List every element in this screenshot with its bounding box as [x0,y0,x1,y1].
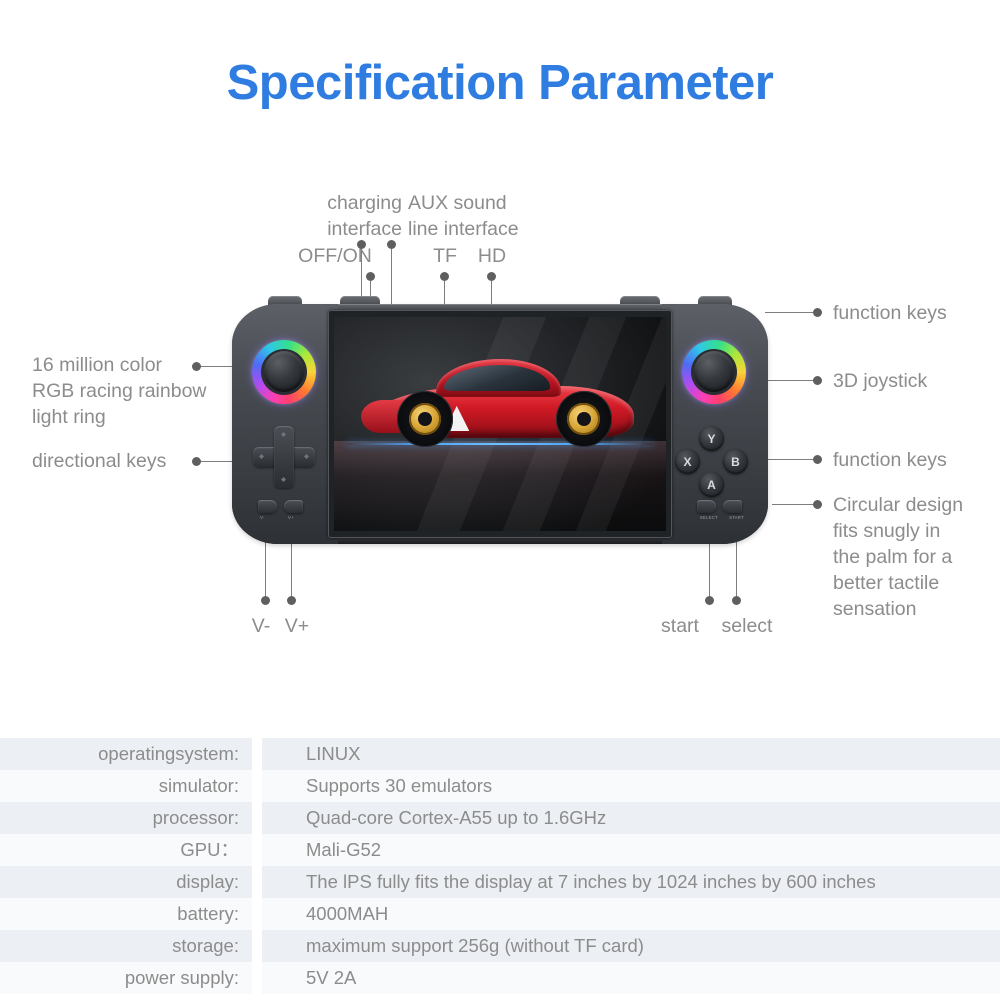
spec-key: GPU： [0,834,252,866]
spec-value: 5V 2A [262,962,1000,994]
column-divider [252,866,262,898]
spec-key: display: [0,866,252,898]
column-divider [252,930,262,962]
leader-dot-off-on [366,272,375,281]
callout-aux-sound-line-interface: AUX sound line interface [408,190,558,242]
callout-charging-interface: charging interface [255,190,402,242]
column-divider [252,802,262,834]
table-row: battery:4000MAH [0,898,1000,930]
handheld-game-console: V- V+ Y X B A SELECT START [232,296,768,544]
column-divider [252,834,262,866]
callout-circular-design: Circular design fits snugly in the palm … [833,492,998,622]
callout-directional-keys: directional keys [32,448,202,474]
screen-bezel [328,310,672,538]
leader-line-circular-design [772,504,815,505]
select-button-label: SELECT [700,515,718,520]
table-row: storage:maximum support 256g (without TF… [0,930,1000,962]
leader-dot-circular-design [813,500,822,509]
button-a[interactable]: A [699,472,724,497]
volume-down-button[interactable] [258,500,277,513]
leader-dot-function-keys-top [813,308,822,317]
console-screen[interactable] [334,317,666,531]
column-divider [252,962,262,994]
button-x[interactable]: X [675,449,700,474]
leader-dot-start [705,596,714,605]
screen-floor-reflection [334,441,666,531]
table-row: GPU：Mali-G52 [0,834,1000,866]
column-divider [252,738,262,770]
leader-dot-directional-keys [192,457,201,466]
spec-value: LINUX [262,738,1000,770]
start-button[interactable] [723,500,742,513]
leader-dot-charging [357,240,366,249]
page-title: Specification Parameter [0,55,1000,111]
column-divider [252,898,262,930]
table-row: processor:Quad-core Cortex-A55 up to 1.6… [0,802,1000,834]
callout-function-keys-face: function keys [833,447,1000,473]
spec-value: 4000MAH [262,898,1000,930]
button-y[interactable]: Y [699,426,724,451]
specification-page: Specification Parameter charging interfa… [0,0,1000,1000]
callout-hd: HD [468,243,516,269]
table-row: power supply:5V 2A [0,962,1000,994]
callout-function-keys-top: function keys [833,300,1000,326]
leader-dot-3d-joystick [813,376,822,385]
callout-3d-joystick: 3D joystick [833,368,1000,394]
callout-rgb-light-ring: 16 million color RGB racing rainbow ligh… [32,352,232,430]
leader-dot-aux [387,240,396,249]
spec-key: simulator: [0,770,252,802]
leader-dot-hd [487,272,496,281]
spec-value: Mali-G52 [262,834,1000,866]
screen-car-image [361,356,640,446]
callout-select: select [712,613,782,639]
table-row: operatingsystem:LINUX [0,738,1000,770]
start-button-label: START [729,515,744,520]
left-joystick-rgb-ring[interactable] [252,340,316,404]
callout-tf: TF [422,243,468,269]
callout-volume-up: V+ [274,613,320,639]
leader-dot-volume-down [261,596,270,605]
spec-value: maximum support 256g (without TF card) [262,930,1000,962]
spec-key: operatingsystem: [0,738,252,770]
select-button[interactable] [697,500,716,513]
table-row: simulator:Supports 30 emulators [0,770,1000,802]
volume-down-label: V- [260,515,265,520]
spec-key: storage: [0,930,252,962]
button-b[interactable]: B [723,449,748,474]
leader-dot-volume-up [287,596,296,605]
leader-dot-select [732,596,741,605]
specification-table: operatingsystem:LINUXsimulator:Supports … [0,738,1000,994]
spec-key: processor: [0,802,252,834]
spec-value: Supports 30 emulators [262,770,1000,802]
joystick-cap[interactable] [264,351,304,392]
spec-key: power supply: [0,962,252,994]
leader-line-function-keys-top [765,312,815,313]
joystick-cap[interactable] [694,351,734,392]
directional-pad[interactable] [253,426,315,488]
callout-off-on: OFF/ON [280,243,390,269]
spec-key: battery: [0,898,252,930]
spec-value: The lPS fully fits the display at 7 inch… [262,866,1000,898]
volume-up-button[interactable] [284,500,303,513]
callout-start: start [648,613,712,639]
console-body: V- V+ Y X B A SELECT START [232,304,768,544]
leader-dot-rgb-ring [192,362,201,371]
spec-value: Quad-core Cortex-A55 up to 1.6GHz [262,802,1000,834]
leader-dot-function-keys-face [813,455,822,464]
volume-up-label: V+ [288,515,294,520]
right-joystick-rgb-ring[interactable] [682,340,746,404]
column-divider [252,770,262,802]
leader-dot-tf [440,272,449,281]
table-row: display:The lPS fully fits the display a… [0,866,1000,898]
